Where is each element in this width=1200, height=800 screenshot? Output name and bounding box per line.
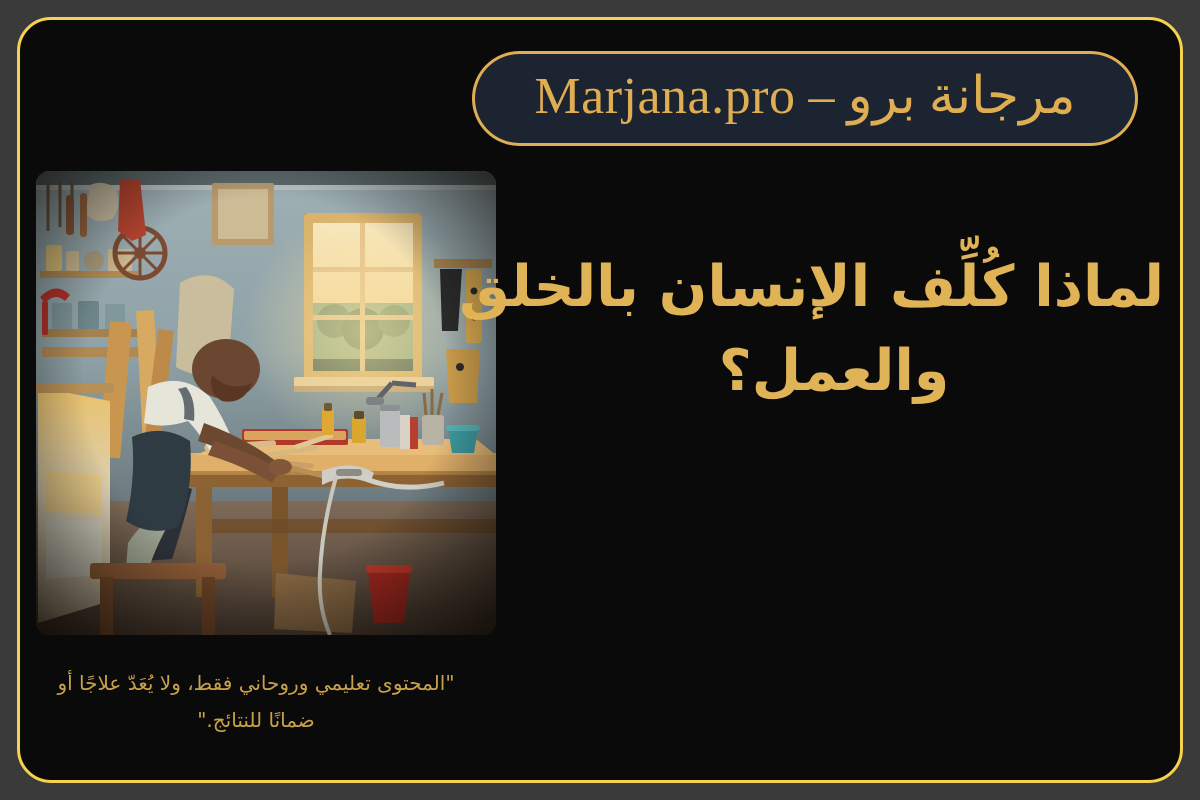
hero-illustration <box>36 171 496 635</box>
headline-line-2: والعمل؟ <box>504 329 1164 413</box>
brand-badge-label: مرجانة برو – Marjana.pro <box>534 71 1075 127</box>
slide-root: مرجانة برو – Marjana.pro <box>0 0 1200 800</box>
slide-frame: مرجانة برو – Marjana.pro <box>17 17 1183 783</box>
headline-line-1: لماذا كُلِّف الإنسان بالخلق <box>504 245 1164 329</box>
brand-badge[interactable]: مرجانة برو – Marjana.pro <box>472 51 1138 146</box>
disclaimer-text: "المحتوى تعليمي وروحاني فقط، ولا يُعَدّ … <box>36 665 476 739</box>
workshop-scene-icon <box>36 171 496 635</box>
page-title: لماذا كُلِّف الإنسان بالخلق والعمل؟ <box>504 245 1164 414</box>
